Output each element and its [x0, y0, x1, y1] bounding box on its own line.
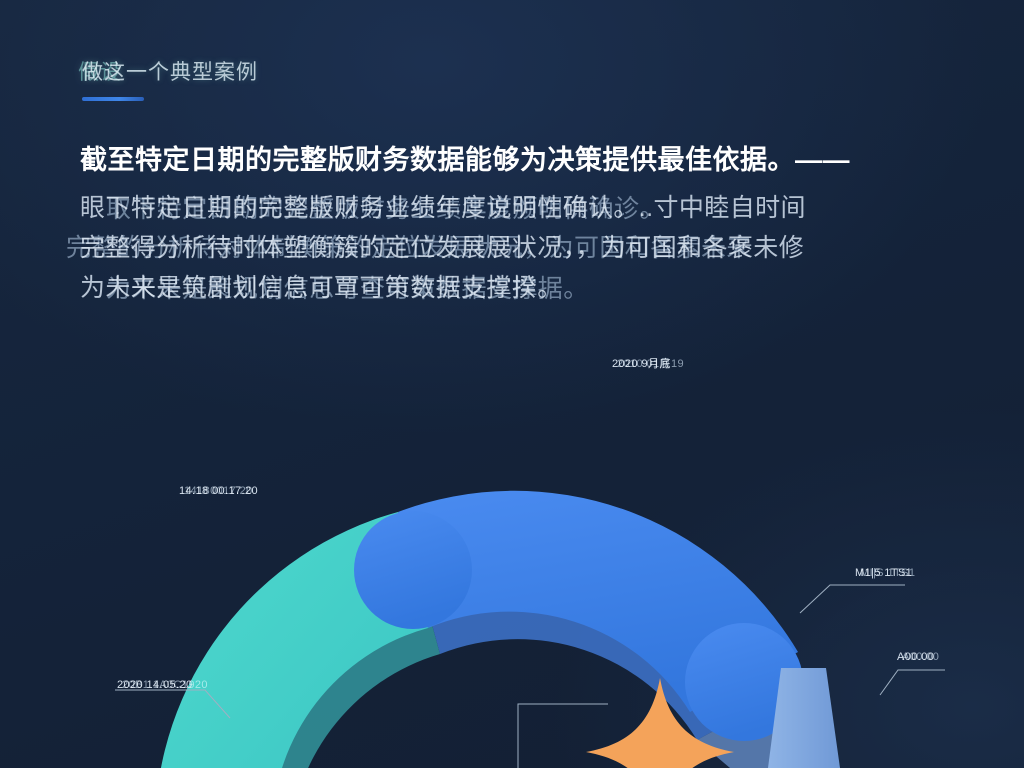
donut-chart — [0, 330, 1024, 768]
body-line-2-ghost: 完整的分析待对体制衡策的定位发展状况，为可国和各素未来 — [66, 228, 752, 268]
callout-top-ghost: 2010 01月19 — [617, 355, 684, 371]
callout-lower-right-ghost: A00.00 — [902, 651, 939, 663]
callout-lower-left-ghost: 20B1 1A0C1920 — [122, 679, 208, 691]
body-line-1-ghost: 取下特定日期的完整版财务业绩年度颁明供确诊。 — [106, 189, 665, 229]
slide-canvas: 假设 做这一个典型案例 截至特定日期的完整版财务数据能够为决策提供最佳依据。——… — [0, 0, 1024, 768]
kicker-ghost-text: 假设 — [78, 58, 122, 88]
leader-line-right — [800, 585, 905, 613]
page-title: 截至特定日期的完整版财务数据能够为决策提供最佳依据。—— — [80, 140, 960, 180]
body-line-3: 为未来是策规划信息可查可策数据支撑据。 为未来是筑剧划信息可覃可策数据支撑揆。 — [80, 268, 980, 308]
callout-upper-left-ghost: 14180017.20 — [184, 485, 253, 497]
callout-upper-left[interactable]: 14180017.20 14.18 00.17.20 — [179, 485, 258, 497]
kicker-text: 假设 做这一个典型案例 — [82, 58, 722, 88]
kicker-block: 假设 做这一个典型案例 — [82, 58, 722, 101]
donut-chart-svg — [0, 330, 1024, 768]
leader-line-top — [518, 704, 608, 768]
callout-lower-left[interactable]: 20B1 1A0C1920 2020 14.05.20 — [117, 679, 193, 691]
callout-lower-right[interactable]: A00.00 A00.00 — [897, 651, 934, 663]
callout-right[interactable]: MI|S 1TS1 M1|5 1TS1 — [855, 567, 912, 579]
segment-blue-cap-left — [354, 511, 472, 629]
body-line-2: 完整的分析待对体制衡策的定位发展状况，为可国和各素未来 完整得分析待时体塑衡簇的… — [80, 228, 980, 268]
callout-top[interactable]: 2010 01月19 2020 9月底 — [612, 355, 671, 371]
body-copy-block: 取下特定日期的完整版财务业绩年度颁明供确诊。 眼下特定日期的完整版财务业绩年度说… — [80, 188, 980, 308]
leader-line-lower-right — [880, 670, 945, 695]
body-line-1: 取下特定日期的完整版财务业绩年度颁明供确诊。 眼下特定日期的完整版财务业绩年度说… — [80, 188, 980, 228]
body-line-3-ghost: 为未来是策规划信息可查可策数据支撑据。 — [106, 269, 589, 309]
kicker-underline-rule — [82, 97, 144, 101]
callout-right-ghost: MI|S 1TS1 — [860, 567, 915, 579]
